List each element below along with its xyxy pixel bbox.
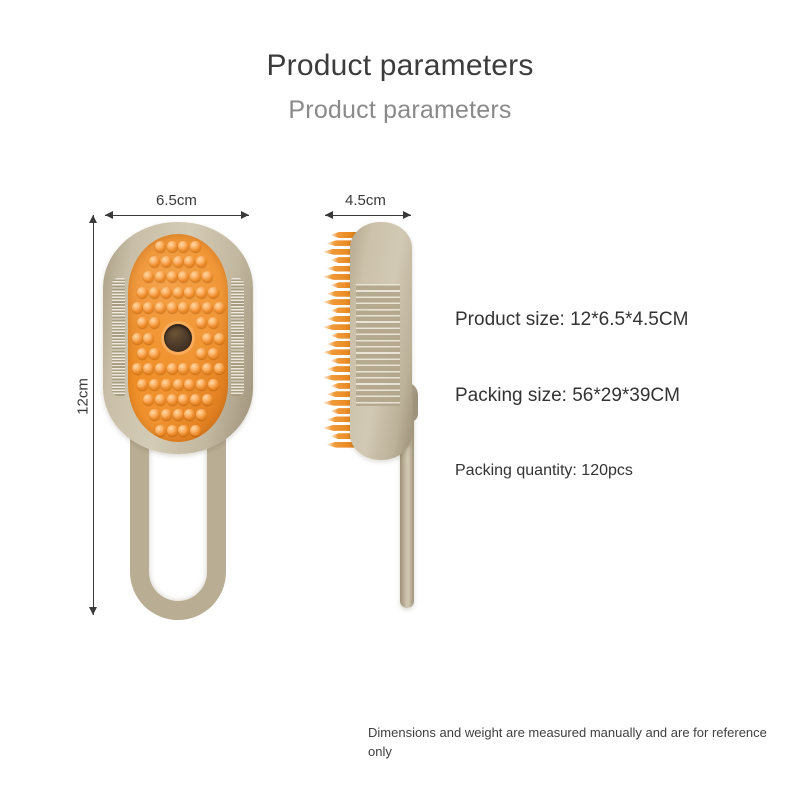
dimension-line [325,215,411,216]
brush-nub [208,348,219,359]
brush-nub [137,348,148,359]
brush-nub [190,302,201,313]
brush-nub [167,241,178,252]
brush-nub [190,271,201,282]
brush-nub [132,302,143,313]
brush-nub [202,363,213,374]
brush-nub [149,348,160,359]
brush-nub [196,348,207,359]
brush-nub [196,317,207,328]
brush-nub [178,241,189,252]
brush-nub [149,256,160,267]
brush-nub [155,241,166,252]
silicone-nub-pad [128,234,228,442]
brush-nub [132,333,143,344]
page-subtitle: Product parameters [0,94,800,126]
brush-nub [137,287,148,298]
dimension-line [105,215,249,216]
brush-nub [178,363,189,374]
brush-nub [178,271,189,282]
arrowhead-bottom-icon [89,607,97,615]
brush-nub [149,287,160,298]
brush-nub [167,271,178,282]
brush-nub [167,302,178,313]
dimension-arrow-front-width [105,211,249,220]
brush-body-side [350,222,412,460]
brush-nub [214,333,225,344]
brush-nub [161,379,172,390]
arrowhead-right-icon [403,211,411,219]
brush-nub [214,363,225,374]
brush-nub [155,425,166,436]
disclaimer-note: Dimensions and weight are measured manua… [368,723,768,761]
brush-nub [184,379,195,390]
brush-nub [178,425,189,436]
comb-teeth-left [112,278,125,396]
spray-nozzle-hole [164,324,192,352]
brush-nub [161,256,172,267]
brush-nub [132,363,143,374]
brush-nub [202,333,213,344]
dimension-label-front-width: 6.5cm [156,192,197,209]
brush-nub [184,256,195,267]
brush-nub [155,271,166,282]
dimension-label-side-width: 4.5cm [345,192,386,209]
brush-body-front [103,222,253,454]
brush-nub [190,363,201,374]
brush-nub [196,287,207,298]
brush-nub [178,302,189,313]
brush-nub [167,394,178,405]
brush-nub [143,333,154,344]
dimension-line [93,215,94,615]
arrowhead-right-icon [241,211,249,219]
brush-nub [161,409,172,420]
spec-packing-size: Packing size: 56*29*39CM [455,385,680,407]
brush-nub [155,394,166,405]
brush-nub [143,363,154,374]
brush-nub [167,425,178,436]
infographic-canvas: Product parameters Product parameters 6.… [0,0,800,800]
brush-nub [208,379,219,390]
brush-nub [149,379,160,390]
brush-nub [149,317,160,328]
brush-nub [190,394,201,405]
brush-nub [155,363,166,374]
brush-nub [161,287,172,298]
brush-nub [190,241,201,252]
brush-nub [143,271,154,282]
brush-nub [167,363,178,374]
brush-nub [208,287,219,298]
brush-nub [143,394,154,405]
steam-brush-side-view [322,222,442,622]
brush-nub [173,379,184,390]
brush-nub [173,409,184,420]
brush-nub [173,287,184,298]
brush-nub [196,256,207,267]
brush-nub [137,379,148,390]
brush-nub [149,409,160,420]
comb-teeth-right [231,278,244,396]
brush-nub [173,256,184,267]
brush-nub [155,302,166,313]
brush-nub [196,409,207,420]
dimension-arrow-side-width [325,211,411,220]
page-title: Product parameters [0,48,800,84]
brush-nub [202,394,213,405]
brush-nub [202,271,213,282]
spec-packing-quantity: Packing quantity: 120pcs [455,462,633,480]
brush-nub [214,302,225,313]
comb-grooves [356,284,400,406]
brush-nub [143,302,154,313]
brush-nub [190,425,201,436]
brush-nub [208,317,219,328]
dimension-label-height: 12cm [75,374,92,420]
brush-nub [202,302,213,313]
brush-nub [196,379,207,390]
brush-nub [178,394,189,405]
brush-nub [137,317,148,328]
steam-brush-front-view [103,222,253,622]
brush-nub [184,287,195,298]
brush-nub [184,409,195,420]
spec-product-size: Product size: 12*6.5*4.5CM [455,309,688,331]
